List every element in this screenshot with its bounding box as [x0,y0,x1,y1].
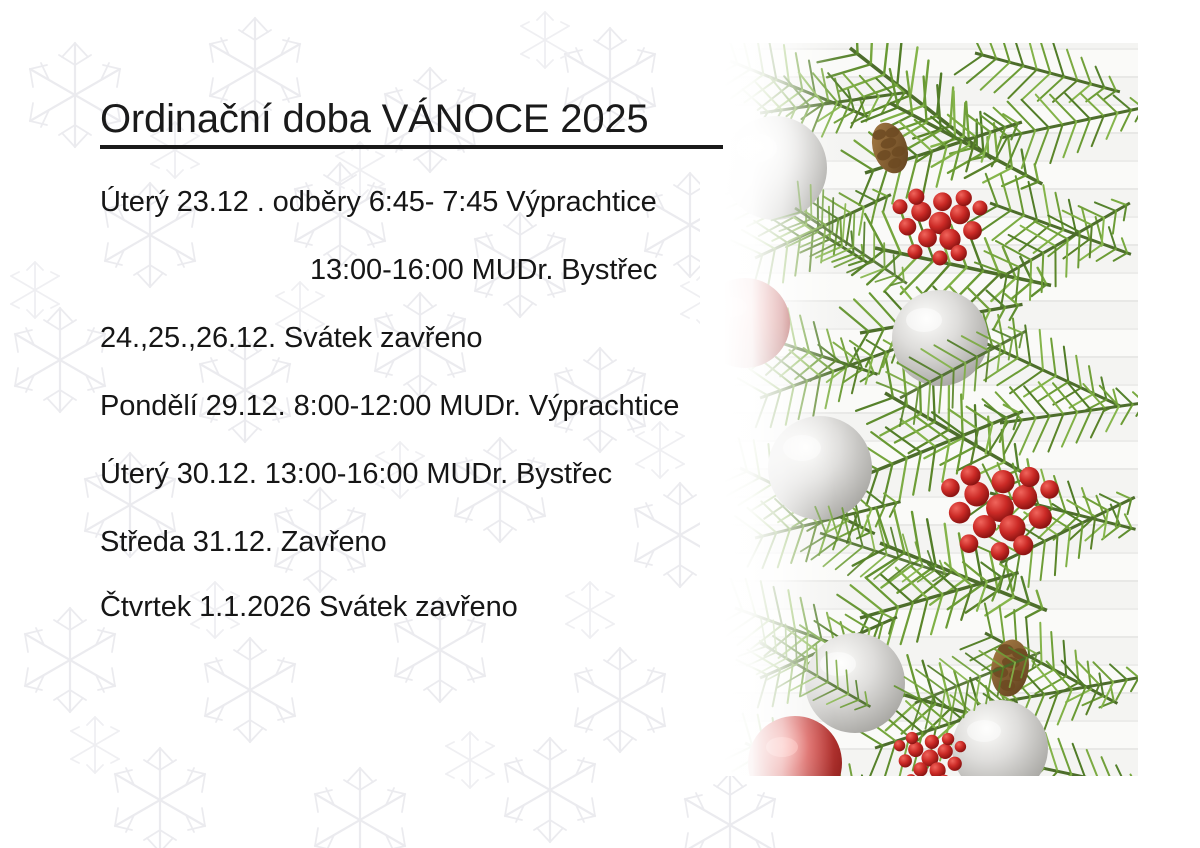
schedule-line-3: 24.,25.,26.12. Svátek zavřeno [100,322,482,355]
schedule-line-5: Úterý 30.12. 13:00-16:00 MUDr. Bystřec [100,458,612,491]
christmas-decoration-photo [700,43,1138,776]
schedule-line-1: Úterý 23.12 . odběry 6:45- 7:45 Výpracht… [100,186,657,219]
page-title: Ordinační doba VÁNOCE 2025 [100,97,648,142]
christmas-opening-hours-poster: Ordinační doba VÁNOCE 2025 Úterý 23.12 .… [0,0,1200,848]
pine-and-ornaments-illustration [700,43,1138,776]
schedule-line-2: 13:00-16:00 MUDr. Bystřec [310,254,657,287]
schedule-line-6: Středa 31.12. Zavřeno [100,526,386,559]
schedule-line-4: Pondělí 29.12. 8:00-12:00 MUDr. Výpracht… [100,390,679,423]
schedule-line-7: Čtvrtek 1.1.2026 Svátek zavřeno [100,591,518,624]
title-underline [100,145,723,149]
